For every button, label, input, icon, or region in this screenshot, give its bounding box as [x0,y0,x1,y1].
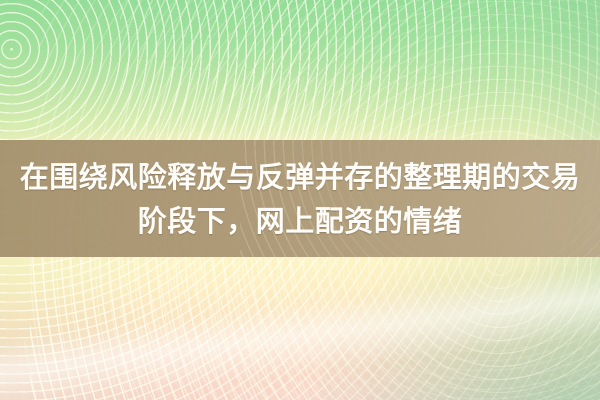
headline-text: 在围绕风险释放与反弹并存的整理期的交易阶段下，网上配资的情绪 [0,155,600,243]
headline-band: 在围绕风险释放与反弹并存的整理期的交易阶段下，网上配资的情绪 [0,140,600,257]
banner-graphic: 在围绕风险释放与反弹并存的整理期的交易阶段下，网上配资的情绪 [0,0,600,400]
